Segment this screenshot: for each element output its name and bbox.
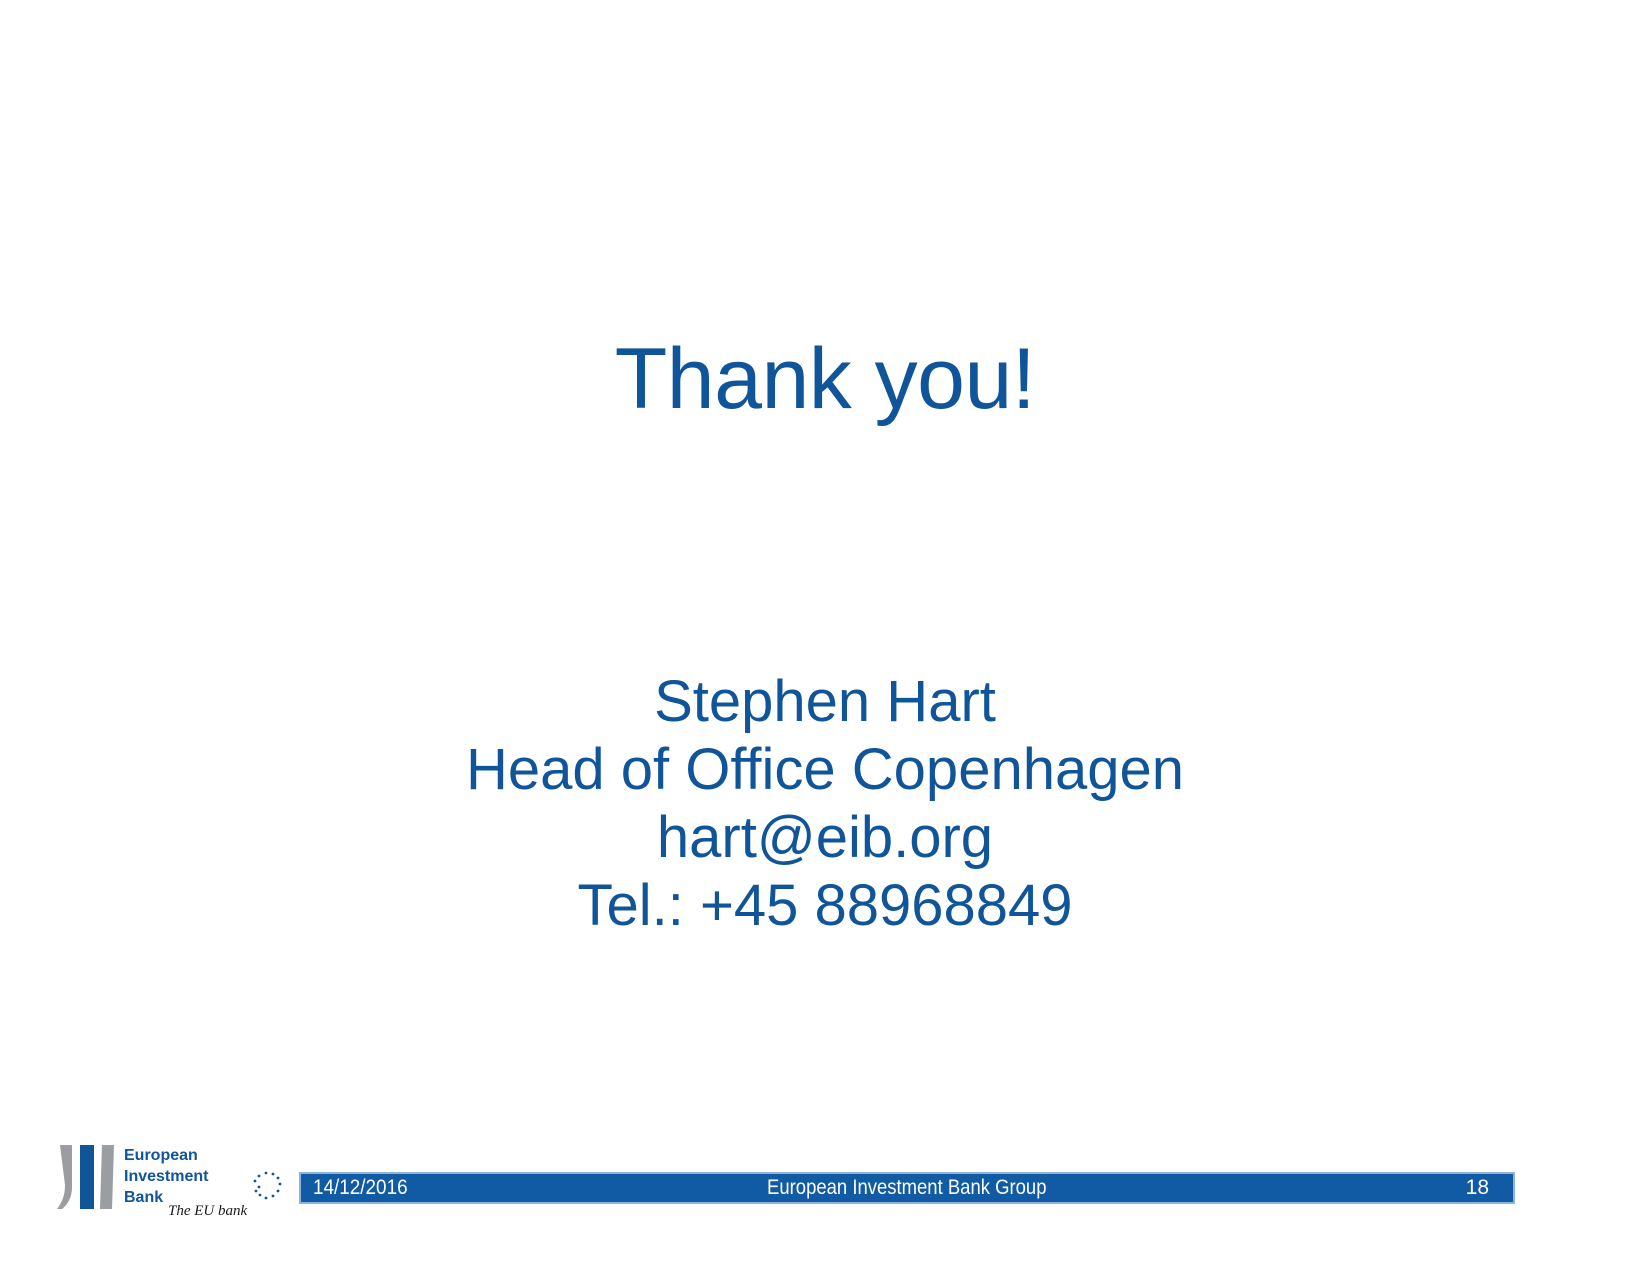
contact-name: Stephen Hart: [0, 668, 1650, 736]
contact-email[interactable]: hart@eib.org: [0, 804, 1650, 872]
contact-block: Stephen Hart Head of Office Copenhagen h…: [0, 668, 1650, 939]
contact-role: Head of Office Copenhagen: [0, 736, 1650, 804]
eib-logo-line1: European: [124, 1147, 198, 1164]
eu-stars-icon: [254, 1172, 282, 1200]
footer-bar: 14/12/2016 European Investment Bank Grou…: [299, 1172, 1515, 1204]
eib-logo-wordmark: European Investment Bank: [124, 1147, 209, 1206]
footer-page-number-text: 18: [1466, 1176, 1489, 1199]
contact-phone: Tel.: +45 88968849: [0, 872, 1650, 940]
eib-logo: European Investment Bank The EU bank: [56, 1143, 286, 1223]
footer-page-number: 18: [1466, 1176, 1489, 1200]
eib-logo-bars-icon: [57, 1145, 114, 1209]
footer-center-text: European Investment Bank Group: [767, 1176, 1046, 1200]
slide: Thank you! Stephen Hart Head of Office C…: [0, 0, 1650, 1275]
eib-logo-line2: Investment: [124, 1168, 209, 1185]
footer-center: European Investment Bank Group: [301, 1176, 1513, 1200]
eib-logo-line3: Bank: [124, 1189, 163, 1206]
page-title: Thank you!: [0, 333, 1650, 426]
eib-logo-tagline: The EU bank: [168, 1203, 247, 1219]
